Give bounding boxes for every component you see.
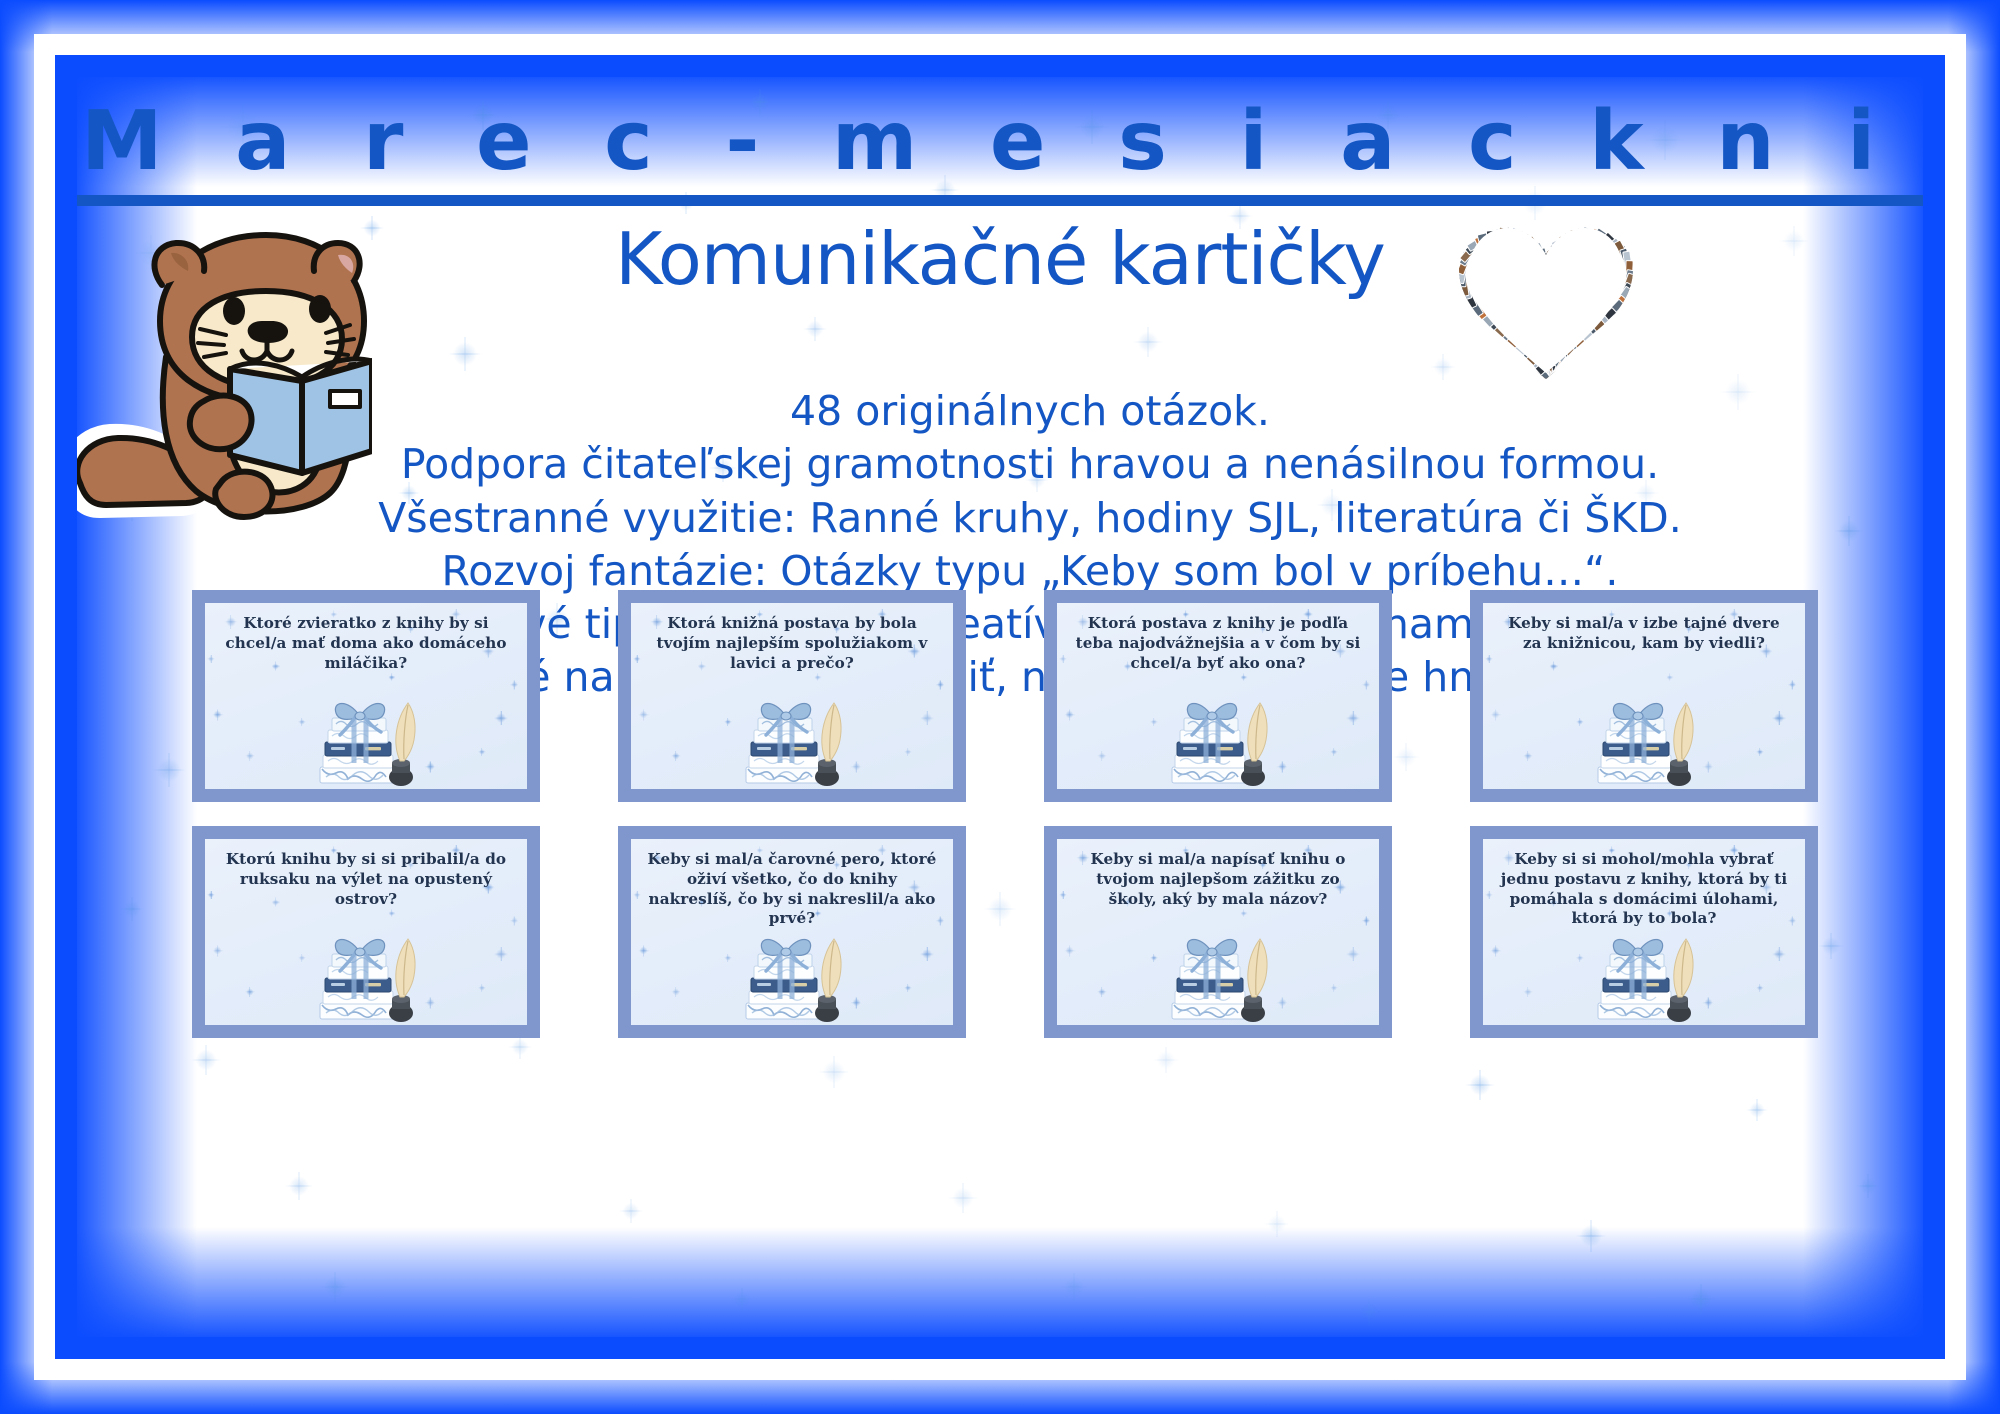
question-card-grid: Ktoré zvieratko z knihy by si chcel/a ma… bbox=[192, 590, 1812, 1038]
question-card-text: Keby si mal/a napísať knihu o tvojom naj… bbox=[1057, 839, 1379, 909]
question-card-inner: Keby si mal/a v izbe tajné dvere za kniž… bbox=[1483, 603, 1805, 789]
stacked-books-with-quill-icon bbox=[1586, 685, 1702, 789]
question-card-inner: Ktorá postava z knihy je podľa teba najo… bbox=[1057, 603, 1379, 789]
question-card-inner: Ktorú knihu by si si pribalil/a do ruksa… bbox=[205, 839, 527, 1025]
title-block: M a r e c - m e s i a c k n i h y bbox=[77, 99, 1923, 206]
page-title: M a r e c - m e s i a c k n i h y bbox=[77, 99, 1923, 206]
stacked-books-with-quill-icon bbox=[734, 685, 850, 789]
question-card-text: Keby si mal/a v izbe tajné dvere za kniž… bbox=[1483, 603, 1805, 654]
question-card-text: Keby si mal/a čarovné pero, ktoré oživí … bbox=[631, 839, 953, 929]
stacked-books-with-quill-icon bbox=[1160, 685, 1276, 789]
question-card: Keby si mal/a v izbe tajné dvere za kniž… bbox=[1470, 590, 1818, 802]
blurb-line-2: Podpora čitateľskej gramotnosti hravou a… bbox=[197, 438, 1863, 491]
question-card-inner: Keby si si mohol/mohla vybrať jednu post… bbox=[1483, 839, 1805, 1025]
question-card-text: Keby si si mohol/mohla vybrať jednu post… bbox=[1483, 839, 1805, 929]
question-card-inner: Ktoré zvieratko z knihy by si chcel/a ma… bbox=[205, 603, 527, 789]
question-card-text: Ktorá postava z knihy je podľa teba najo… bbox=[1057, 603, 1379, 673]
question-card: Keby si mal/a napísať knihu o tvojom naj… bbox=[1044, 826, 1392, 1038]
stacked-books-with-quill-icon bbox=[308, 685, 424, 789]
stacked-books-with-quill-icon bbox=[1586, 921, 1702, 1025]
blurb-line-1: 48 originálnych otázok. bbox=[197, 385, 1863, 438]
stacked-books-with-quill-icon bbox=[734, 921, 850, 1025]
question-card: Ktorá postava z knihy je podľa teba najo… bbox=[1044, 590, 1392, 802]
heart-of-books-icon bbox=[1453, 207, 1639, 385]
question-card-inner: Ktorá knižná postava by bola tvojím najl… bbox=[631, 603, 953, 789]
stacked-books-with-quill-icon bbox=[308, 921, 424, 1025]
question-card: Keby si mal/a čarovné pero, ktoré oživí … bbox=[618, 826, 966, 1038]
question-card: Ktorá knižná postava by bola tvojím najl… bbox=[618, 590, 966, 802]
poster-content: M a r e c - m e s i a c k n i h y Komuni… bbox=[77, 77, 1923, 1337]
question-card-inner: Keby si mal/a čarovné pero, ktoré oživí … bbox=[631, 839, 953, 1025]
blurb-line-3: Všestranné využitie: Ranné kruhy, hodiny… bbox=[197, 492, 1863, 545]
question-card: Ktoré zvieratko z knihy by si chcel/a ma… bbox=[192, 590, 540, 802]
question-card: Keby si si mohol/mohla vybrať jednu post… bbox=[1470, 826, 1818, 1038]
stacked-books-with-quill-icon bbox=[1160, 921, 1276, 1025]
question-card-text: Ktorá knižná postava by bola tvojím najl… bbox=[631, 603, 953, 673]
question-card-text: Ktorú knihu by si si pribalil/a do ruksa… bbox=[205, 839, 527, 909]
question-card-inner: Keby si mal/a napísať knihu o tvojom naj… bbox=[1057, 839, 1379, 1025]
poster-root: M a r e c - m e s i a c k n i h y Komuni… bbox=[0, 0, 2000, 1414]
question-card-text: Ktoré zvieratko z knihy by si chcel/a ma… bbox=[205, 603, 527, 673]
question-card: Ktorú knihu by si si pribalil/a do ruksa… bbox=[192, 826, 540, 1038]
